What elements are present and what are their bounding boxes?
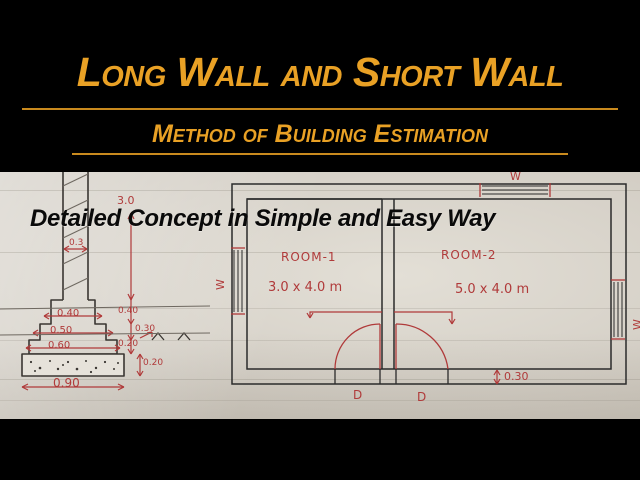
dim-depth-c: 0.20 [118,339,138,349]
page-subtitle: Method of Building Estimation [0,119,640,149]
title-underline [22,108,618,110]
door-label-left: D [353,388,362,402]
dim-depth-a: 0.40 [118,306,138,316]
subtitle-underline [72,153,568,155]
window-symbol-right [614,282,622,337]
caption-text: Detailed Concept in Simple and Easy Way [30,205,495,233]
room-1-size: 3.0 x 4.0 m [268,280,342,295]
dim-depth-b: 0.30 [135,324,155,334]
dim-wall-030-marker [494,370,500,384]
dim-footing-step2: 0.50 [50,325,72,336]
page-title: Long Wall and Short Wall [0,50,640,94]
window-label-right: W [631,319,640,330]
room-2-name: ROOM-2 [441,248,497,262]
door-label-right: D [417,390,426,404]
wall-thickness-leaders [307,312,455,324]
dim-footing-step3: 0.60 [48,340,70,351]
door-swing-left [335,324,380,369]
dim-depth-d: 0.20 [143,358,163,368]
title-band: Long Wall and Short Wall Method of Build… [0,0,640,172]
door-opening-marks [335,369,448,384]
window-symbol-top [482,186,548,194]
door-swing-right [396,324,448,369]
dim-footing-step1: 0.40 [57,308,79,319]
video-thumbnail: Long Wall and Short Wall Method of Build… [0,0,640,480]
window-label-top: W [510,172,521,183]
dim-base-width: 0.90 [53,376,80,390]
dim-wall-thickness: 0.3 [69,238,83,248]
dim-plan-wall-thickness: 0.30 [504,370,529,383]
window-symbol-left [234,250,242,312]
room-1-name: ROOM-1 [281,250,337,264]
window-label-left: W [214,279,227,290]
room-2-size: 5.0 x 4.0 m [455,282,529,297]
